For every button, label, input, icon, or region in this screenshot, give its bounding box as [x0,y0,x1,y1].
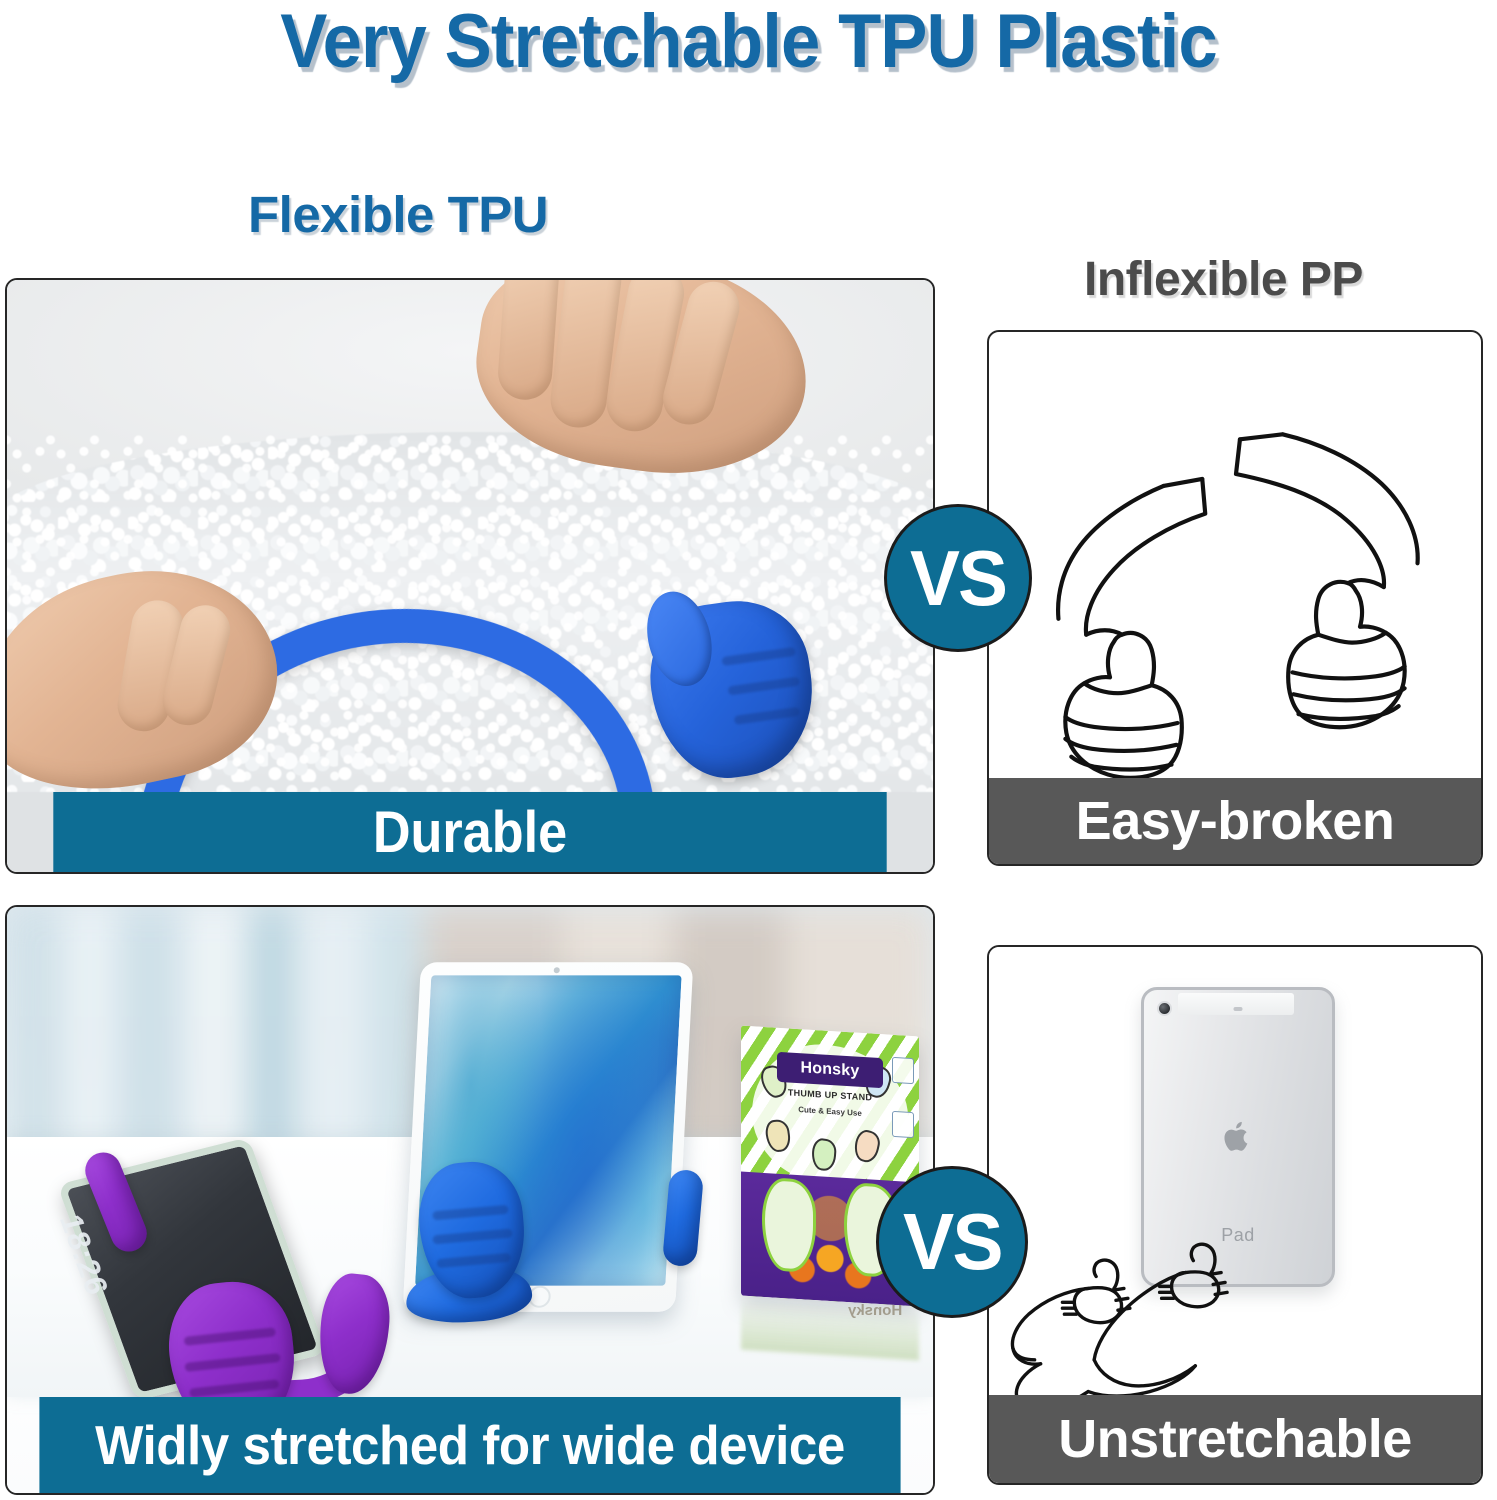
caption-easy-broken: Easy-broken [989,778,1481,864]
vs-label-top: VS [910,533,1006,624]
panel-widly-stretched-photo: 18:26 [5,905,935,1495]
vs-badge-top: VS [884,504,1032,652]
vs-badge-bottom: VS [876,1166,1028,1318]
panel-unstretchable-photo: Pad [987,945,1483,1485]
vs-label-bottom: VS [903,1196,1002,1288]
caption-widly-stretched: Widly stretched for wide device [39,1397,900,1493]
page-title: Very Stretchable TPU Plastic [52,2,1444,82]
photo-stretching-tpu [7,280,933,872]
caption-durable: Durable [53,792,886,872]
label-flexible-tpu: Flexible TPU [248,185,548,244]
label-inflexible-pp: Inflexible PP [1084,252,1363,307]
panel-easy-broken-drawing: Easy-broken [987,330,1483,866]
panel-durable-photo: Durable [5,278,935,874]
infographic-root: Very Stretchable TPU Plastic Flexible TP… [0,0,1497,1500]
table-surface [7,1137,933,1397]
caption-unstretchable: Unstretchable [989,1395,1481,1483]
